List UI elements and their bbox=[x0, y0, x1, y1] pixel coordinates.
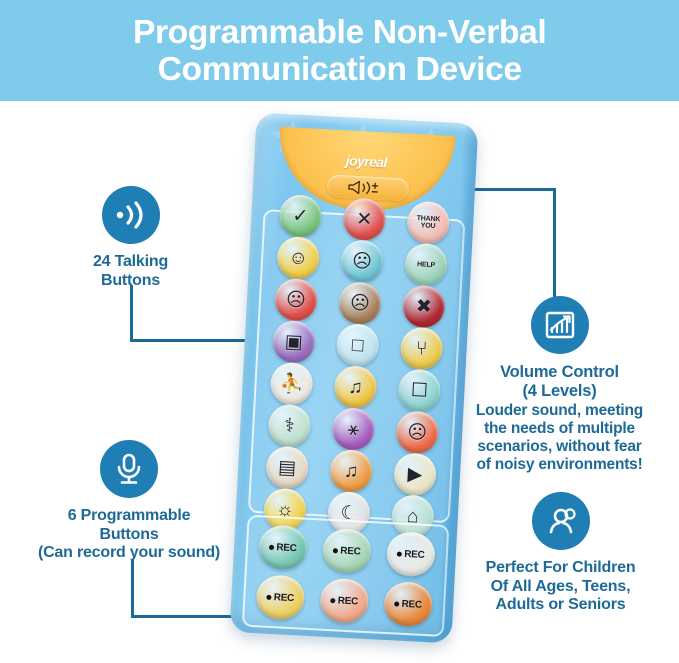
confused-face-button[interactable]: ☹ bbox=[395, 410, 439, 454]
rec-label: REC bbox=[394, 598, 422, 610]
callout-talking-label: 24 Talking Buttons bbox=[18, 253, 243, 290]
volume-button[interactable] bbox=[326, 174, 409, 201]
button-glyph: □ bbox=[351, 335, 363, 355]
rec-text: REC bbox=[337, 595, 358, 607]
rec-label: REC bbox=[330, 595, 358, 607]
rec-label: REC bbox=[269, 541, 297, 553]
rec-button-2[interactable]: REC bbox=[322, 528, 372, 574]
button-glyph: ▣ bbox=[284, 332, 303, 352]
rec-button-3[interactable]: REC bbox=[386, 531, 436, 577]
button-glyph: ⚕ bbox=[284, 416, 295, 436]
callout-programmable-label: 6 Programmable Buttons (Can record your … bbox=[0, 507, 258, 563]
button-text: HELP bbox=[417, 261, 435, 269]
music-note-button[interactable]: ♫ bbox=[329, 449, 373, 493]
button-glyph: ⚹ bbox=[347, 419, 359, 439]
rec-text: REC bbox=[276, 542, 297, 554]
water-glass-button[interactable]: □ bbox=[336, 323, 380, 367]
record-dot-icon bbox=[395, 601, 400, 606]
record-dot-icon bbox=[397, 551, 402, 556]
listen-ear-button[interactable]: ♫ bbox=[333, 365, 377, 409]
help-hand-button[interactable]: HELP bbox=[404, 243, 448, 287]
button-glyph: ♫ bbox=[344, 461, 359, 481]
callout-programmable-buttons: 6 Programmable Buttons (Can record your … bbox=[0, 440, 258, 563]
sad-face-button[interactable]: ☹ bbox=[340, 239, 384, 283]
rec-label: REC bbox=[397, 548, 425, 560]
food-utensils-button[interactable]: ⑂ bbox=[400, 326, 444, 370]
sound-wave-icon bbox=[102, 186, 160, 244]
angry-face-button[interactable]: ☹ bbox=[274, 278, 318, 322]
people-group-icon bbox=[532, 492, 590, 550]
rec-label: REC bbox=[267, 591, 295, 603]
rec-button-4[interactable]: REC bbox=[255, 574, 305, 620]
rec-text: REC bbox=[401, 598, 422, 610]
record-buttons-panel: RECRECRECRECRECREC bbox=[242, 515, 450, 637]
button-glyph: ⛹ bbox=[279, 374, 304, 394]
brand-logo: joyreal bbox=[278, 149, 455, 174]
rec-text: REC bbox=[404, 548, 425, 560]
button-text: THANK YOU bbox=[416, 215, 440, 230]
happy-face-button[interactable]: ☺ bbox=[276, 236, 320, 280]
button-glyph: ▤ bbox=[278, 458, 297, 478]
tv-screen-button[interactable]: ▶ bbox=[393, 452, 437, 496]
yes-check-button[interactable]: ✓ bbox=[278, 194, 322, 238]
volume-speaker-icon bbox=[345, 179, 392, 196]
toilet-button[interactable]: ⚕ bbox=[267, 404, 311, 448]
button-glyph: ☹ bbox=[407, 422, 428, 442]
callout-audience: Perfect For Children Of All Ages, Teens,… bbox=[442, 492, 679, 615]
microphone-icon bbox=[100, 440, 158, 498]
callout-volume-heading: Volume Control (4 Levels) bbox=[440, 363, 679, 401]
pain-person-button[interactable]: ☹ bbox=[338, 281, 382, 325]
record-dot-icon bbox=[267, 594, 272, 599]
bath-tub-button[interactable]: ☐ bbox=[397, 368, 441, 412]
callout-volume-description: Louder sound, meeting the needs of multi… bbox=[440, 402, 679, 474]
rec-text: REC bbox=[340, 545, 361, 557]
button-glyph: ☹ bbox=[286, 290, 307, 310]
callout-volume-control: Volume Control (4 Levels) Louder sound, … bbox=[440, 296, 679, 474]
record-dot-icon bbox=[333, 548, 338, 553]
button-glyph: ☺ bbox=[288, 248, 308, 268]
rec-label: REC bbox=[333, 545, 361, 557]
rec-text: REC bbox=[274, 592, 295, 604]
rec-button-5[interactable]: REC bbox=[319, 578, 369, 624]
person-stand-button[interactable]: ⛹ bbox=[270, 362, 314, 406]
page-title: Programmable Non-Verbal Communication De… bbox=[133, 14, 546, 88]
rec-button-6[interactable]: REC bbox=[383, 581, 433, 627]
button-glyph: ✖ bbox=[415, 297, 432, 317]
button-glyph: ☐ bbox=[410, 381, 428, 401]
talking-buttons-panel: ✓✕THANK YOU☺☹HELP☹☹✖▣□⑂⛹♫☐⚕⚹☹▤♫▶☼☾⌂ bbox=[248, 209, 466, 523]
book-read-button[interactable]: ▤ bbox=[265, 446, 309, 490]
bar-chart-arrow-icon bbox=[531, 296, 589, 354]
button-glyph: ✕ bbox=[356, 209, 373, 229]
rec-button-1[interactable]: REC bbox=[258, 524, 308, 570]
callout-audience-label: Perfect For Children Of All Ages, Teens,… bbox=[442, 559, 679, 615]
button-glyph: ✓ bbox=[292, 206, 309, 226]
button-glyph: ⑂ bbox=[415, 339, 427, 359]
button-glyph: ♫ bbox=[348, 377, 363, 397]
button-glyph: ☹ bbox=[352, 251, 373, 271]
record-dot-icon bbox=[331, 598, 336, 603]
button-glyph: ▶ bbox=[407, 464, 423, 484]
infographic-canvas: Programmable Non-Verbal Communication De… bbox=[0, 0, 679, 663]
sitting-person-button[interactable]: ⚹ bbox=[331, 407, 375, 451]
record-dot-icon bbox=[269, 544, 274, 549]
thank-you-button[interactable]: THANK YOU bbox=[406, 201, 450, 245]
button-glyph: ☹ bbox=[350, 293, 371, 313]
callout-talking-buttons: 24 Talking Buttons bbox=[18, 186, 243, 290]
tv-watch-button[interactable]: ▣ bbox=[272, 320, 316, 364]
header-band: Programmable Non-Verbal Communication De… bbox=[0, 0, 679, 101]
